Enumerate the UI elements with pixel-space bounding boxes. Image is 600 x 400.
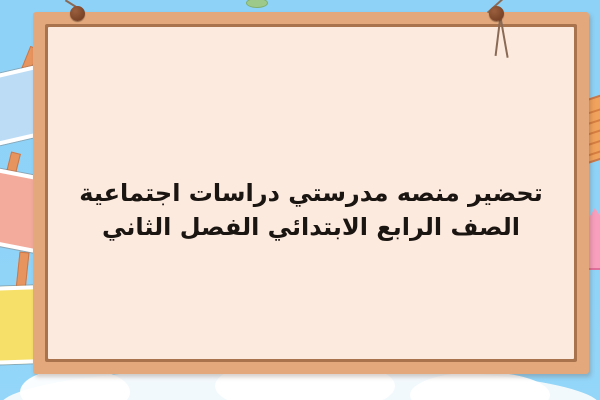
board-surface: تحضير منصه مدرستي دراسات اجتماعية الصف ا… bbox=[48, 27, 574, 359]
board-frame: تحضير منصه مدرستي دراسات اجتماعية الصف ا… bbox=[33, 12, 589, 374]
title-line-1: تحضير منصه مدرستي دراسات اجتماعية bbox=[79, 176, 542, 210]
title-line-2: الصف الرابع الابتدائي الفصل الثاني bbox=[79, 210, 542, 244]
poster-canvas: تحضير منصه مدرستي دراسات اجتماعية الصف ا… bbox=[0, 0, 600, 400]
poster-title: تحضير منصه مدرستي دراسات اجتماعية الصف ا… bbox=[39, 176, 582, 244]
pin-top-right bbox=[489, 6, 504, 21]
board-inner-border: تحضير منصه مدرستي دراسات اجتماعية الصف ا… bbox=[45, 24, 577, 362]
pin-top-left bbox=[70, 6, 85, 21]
